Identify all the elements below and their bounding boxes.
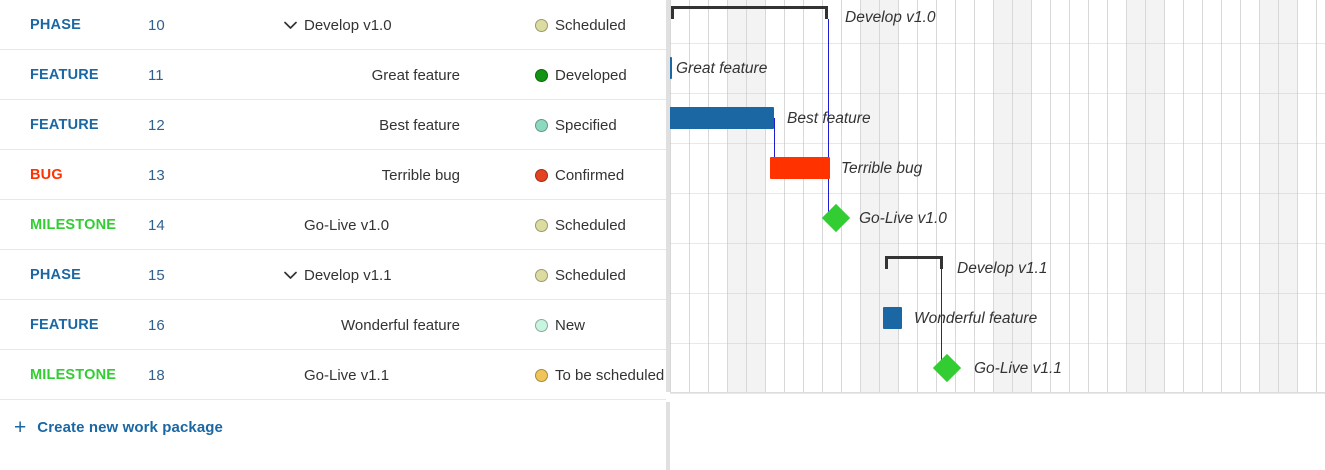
row-subject[interactable]: Go-Live v1.0 (180, 200, 584, 250)
gantt-row-separator (670, 343, 1325, 344)
gantt-bar[interactable] (883, 307, 902, 329)
table-row[interactable]: FEATURE12Best featureSpecified (0, 100, 666, 150)
status-label: To be scheduled (555, 367, 664, 384)
row-type-label: BUG (30, 150, 63, 200)
row-type-label: PHASE (30, 250, 81, 300)
gantt-row-separator (670, 193, 1325, 194)
table-row[interactable]: MILESTONE14Go-Live v1.0Scheduled (0, 200, 666, 250)
work-package-list: PHASE10Develop v1.0ScheduledFEATURE11Gre… (0, 0, 666, 400)
row-status[interactable]: Scheduled (535, 0, 626, 50)
gantt-row-separator (670, 93, 1325, 94)
status-label: Scheduled (555, 217, 626, 234)
row-id-link[interactable]: 11 (148, 50, 164, 100)
row-subject[interactable]: Terrible bug (180, 150, 460, 200)
status-label: Scheduled (555, 267, 626, 284)
table-row[interactable]: MILESTONE18Go-Live v1.1To be scheduled (0, 350, 666, 400)
gantt-row-separator (670, 243, 1325, 244)
gantt-bar[interactable] (670, 57, 672, 79)
status-dot-icon (535, 69, 548, 82)
row-subject[interactable]: Develop v1.1 (180, 250, 584, 300)
gantt-item-label: Great feature (676, 61, 767, 77)
row-type-label: MILESTONE (30, 200, 116, 250)
gantt-item-label: Terrible bug (841, 161, 922, 177)
gantt-row-separator (670, 43, 1325, 44)
row-status[interactable]: To be scheduled (535, 350, 664, 400)
row-subject[interactable]: Develop v1.0 (180, 0, 584, 50)
table-row[interactable]: FEATURE16Wonderful featureNew (0, 300, 666, 350)
gantt-bar[interactable] (670, 107, 774, 129)
status-dot-icon (535, 319, 548, 332)
gantt-phase-bracket[interactable] (885, 256, 943, 269)
row-subject[interactable]: Best feature (180, 100, 460, 150)
table-row[interactable]: FEATURE11Great featureDeveloped (0, 50, 666, 100)
row-id-link[interactable]: 14 (148, 200, 165, 250)
gantt-bar[interactable] (770, 157, 830, 179)
status-dot-icon (535, 269, 548, 282)
row-status[interactable]: Confirmed (535, 150, 624, 200)
row-id-link[interactable]: 16 (148, 300, 165, 350)
row-subject[interactable]: Great feature (180, 50, 460, 100)
row-subject[interactable]: Go-Live v1.1 (180, 350, 584, 400)
row-type-label: PHASE (30, 0, 81, 50)
gantt-phase-bracket[interactable] (671, 6, 828, 19)
status-dot-icon (535, 219, 548, 232)
gantt-chart-pane: Develop v1.0Great featureBest featureTer… (670, 0, 1325, 470)
status-dot-icon (535, 19, 548, 32)
plus-icon: + (14, 417, 26, 438)
gantt-item-label: Go-Live v1.1 (974, 361, 1062, 377)
work-package-table-pane: PHASE10Develop v1.0ScheduledFEATURE11Gre… (0, 0, 666, 470)
gantt-row-separator (670, 293, 1325, 294)
row-id-link[interactable]: 10 (148, 0, 165, 50)
row-type-label: MILESTONE (30, 350, 116, 400)
table-row[interactable]: BUG13Terrible bugConfirmed (0, 150, 666, 200)
create-new-work-package-row[interactable]: + Create new work package (0, 400, 666, 455)
row-type-label: FEATURE (30, 100, 99, 150)
status-label: Developed (555, 67, 627, 84)
gantt-row-separator (670, 393, 1325, 394)
row-id-link[interactable]: 13 (148, 150, 165, 200)
status-dot-icon (535, 369, 548, 382)
table-row[interactable]: PHASE10Develop v1.0Scheduled (0, 0, 666, 50)
row-status[interactable]: Specified (535, 100, 617, 150)
row-subject[interactable]: Wonderful feature (180, 300, 460, 350)
row-status[interactable]: Scheduled (535, 200, 626, 250)
row-id-link[interactable]: 15 (148, 250, 165, 300)
gantt-item-label: Go-Live v1.0 (859, 211, 947, 227)
status-label: New (555, 317, 585, 334)
gantt-module: PHASE10Develop v1.0ScheduledFEATURE11Gre… (0, 0, 1325, 470)
status-dot-icon (535, 169, 548, 182)
gantt-bottom-border (670, 392, 1325, 393)
status-label: Specified (555, 117, 617, 134)
create-new-work-package-label: Create new work package (37, 419, 223, 436)
row-id-link[interactable]: 12 (148, 100, 165, 150)
status-dot-icon (535, 119, 548, 132)
row-type-label: FEATURE (30, 50, 99, 100)
row-status[interactable]: Developed (535, 50, 627, 100)
status-label: Confirmed (555, 167, 624, 184)
row-type-label: FEATURE (30, 300, 99, 350)
gantt-item-label: Wonderful feature (914, 311, 1037, 327)
table-row[interactable]: PHASE15Develop v1.1Scheduled (0, 250, 666, 300)
gantt-item-label: Develop v1.0 (845, 10, 935, 26)
gantt-item-label: Develop v1.1 (957, 261, 1047, 277)
status-label: Scheduled (555, 17, 626, 34)
row-status[interactable]: New (535, 300, 585, 350)
row-status[interactable]: Scheduled (535, 250, 626, 300)
gantt-item-label: Best feature (787, 111, 871, 127)
gantt-row-separator (670, 143, 1325, 144)
row-id-link[interactable]: 18 (148, 350, 165, 400)
gantt-row-layer (670, 0, 1325, 392)
